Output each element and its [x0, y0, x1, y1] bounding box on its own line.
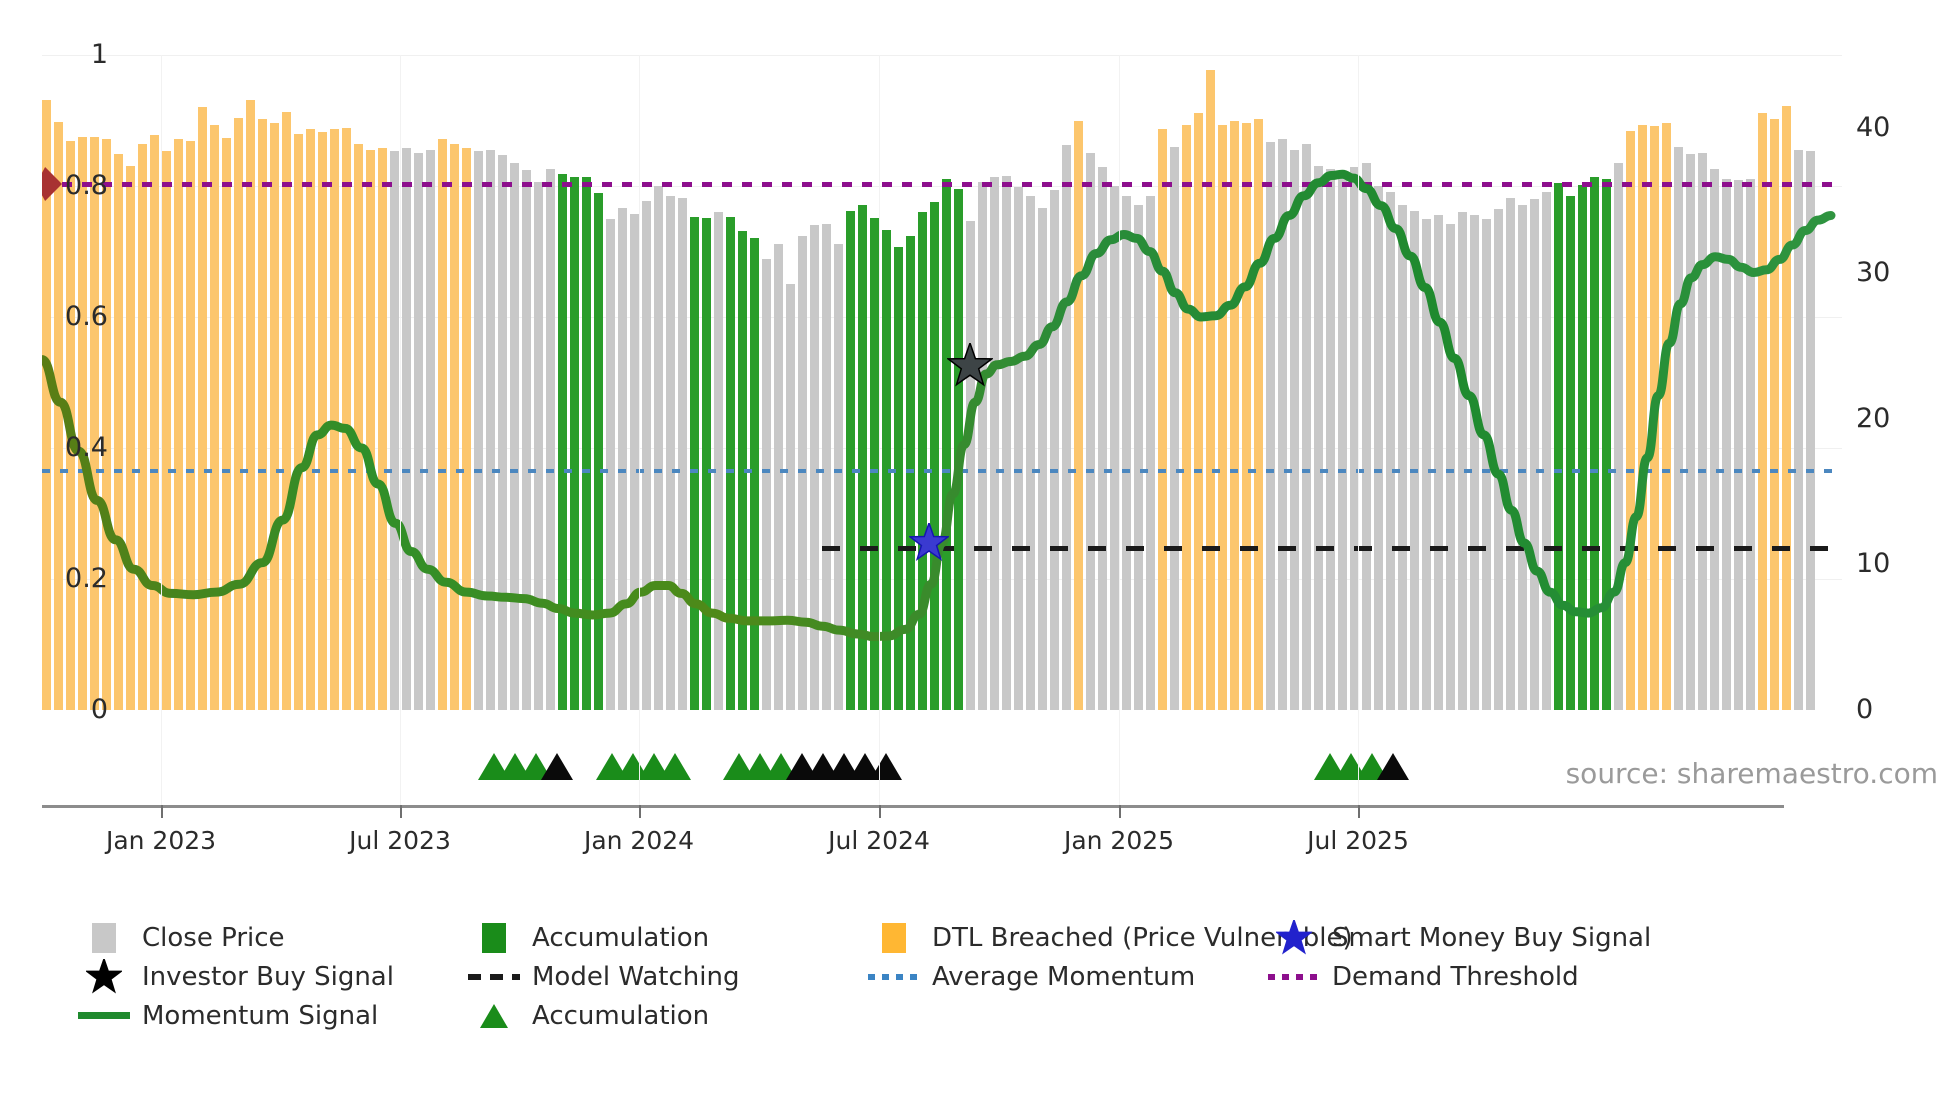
legend-item-label: Model Watching [532, 962, 739, 992]
momentum-signal-line [42, 55, 1842, 710]
x-axis-tick-label: Jul 2025 [1307, 826, 1409, 855]
accumulation-triangle-icon[interactable] [1377, 753, 1409, 780]
legend-row: Close PriceAccumulationDTL Breached (Pri… [78, 918, 1938, 957]
y-axis-right-tick-label: 40 [1856, 114, 1890, 141]
legend-item[interactable]: Model Watching [468, 957, 739, 996]
square-gray-icon [78, 923, 130, 953]
x-axis-tick-mark [161, 805, 163, 818]
chart-canvas [42, 55, 1842, 710]
accumulation-triangle-icon[interactable] [870, 753, 902, 780]
y-axis-right-tick-label: 20 [1856, 405, 1890, 432]
dashed-line-icon [468, 974, 520, 980]
legend-item-label: Momentum Signal [142, 1001, 378, 1031]
square-orange-icon [868, 923, 920, 953]
legend-item-label: Smart Money Buy Signal [1332, 923, 1651, 953]
y-axis-right-tick-label: 10 [1856, 550, 1890, 577]
gridline-vertical-extension [1358, 55, 1359, 805]
legend-item-label: Demand Threshold [1332, 962, 1579, 992]
y-axis-right-tick-label: 0 [1856, 696, 1873, 723]
legend-item[interactable]: Accumulation [468, 918, 709, 957]
legend-item-label: Investor Buy Signal [142, 962, 394, 992]
legend-row: Momentum SignalAccumulation [78, 996, 1938, 1035]
y-axis-left-tick-label: 0.4 [65, 434, 108, 461]
triangle-green-icon [468, 1004, 520, 1028]
square-green-icon [468, 923, 520, 953]
x-axis-tick-mark [400, 805, 402, 818]
chart-plot-area [42, 55, 1842, 710]
x-axis-tick-label: Jan 2023 [106, 826, 216, 855]
dotted-line-icon [1268, 974, 1320, 980]
gridline-vertical-extension [400, 55, 401, 805]
legend-row: Investor Buy SignalModel WatchingAverage… [78, 957, 1938, 996]
gridline-vertical-extension [161, 55, 162, 805]
y-axis-left-tick-label: 0.2 [65, 565, 108, 592]
y-axis-left-tick-label: 0.8 [65, 172, 108, 199]
x-axis-tick-label: Jul 2024 [828, 826, 930, 855]
legend-item[interactable]: Demand Threshold [1268, 957, 1579, 996]
legend-item[interactable]: Investor Buy Signal [78, 957, 394, 996]
x-axis-tick-mark [1119, 805, 1121, 818]
x-axis-tick-label: Jul 2023 [349, 826, 451, 855]
accumulation-triangle-icon[interactable] [659, 753, 691, 780]
star-blue-icon [1268, 920, 1320, 956]
x-axis-tick-mark [1358, 805, 1360, 818]
legend-item[interactable]: Smart Money Buy Signal [1268, 918, 1651, 957]
x-axis-line [42, 805, 1784, 808]
accumulation-triangle-icon[interactable] [541, 753, 573, 780]
legend-item[interactable]: Average Momentum [868, 957, 1195, 996]
y-axis-left-tick-label: 0.6 [65, 303, 108, 330]
y-axis-left-tick-label: 0 [91, 696, 108, 723]
source-watermark: source: sharemaestro.com [1566, 757, 1938, 790]
legend-item-label: Average Momentum [932, 962, 1195, 992]
chart-legend: Close PriceAccumulationDTL Breached (Pri… [78, 918, 1938, 1035]
x-axis-tick-mark [639, 805, 641, 818]
x-axis-tick-mark [879, 805, 881, 818]
x-axis-tick-label: Jan 2024 [584, 826, 694, 855]
solid-line-icon [78, 1012, 130, 1019]
x-axis-tick-label: Jan 2025 [1064, 826, 1174, 855]
legend-item-label: Close Price [142, 923, 285, 953]
legend-item[interactable]: Close Price [78, 918, 285, 957]
y-axis-right-tick-label: 30 [1856, 259, 1890, 286]
legend-item[interactable]: Accumulation [468, 996, 709, 1035]
gridline-vertical-extension [879, 55, 880, 805]
legend-item-label: Accumulation [532, 1001, 709, 1031]
gridline-vertical-extension [639, 55, 640, 805]
star-black-icon [78, 959, 130, 995]
legend-item[interactable]: Momentum Signal [78, 996, 378, 1035]
chart-page: 00.20.40.60.81 010203040 Jan 2023Jul 202… [0, 0, 1960, 1102]
y-axis-left-tick-label: 1 [91, 41, 108, 68]
legend-item-label: Accumulation [532, 923, 709, 953]
gridline-vertical-extension [1119, 55, 1120, 805]
dotted-line-icon [868, 974, 920, 980]
